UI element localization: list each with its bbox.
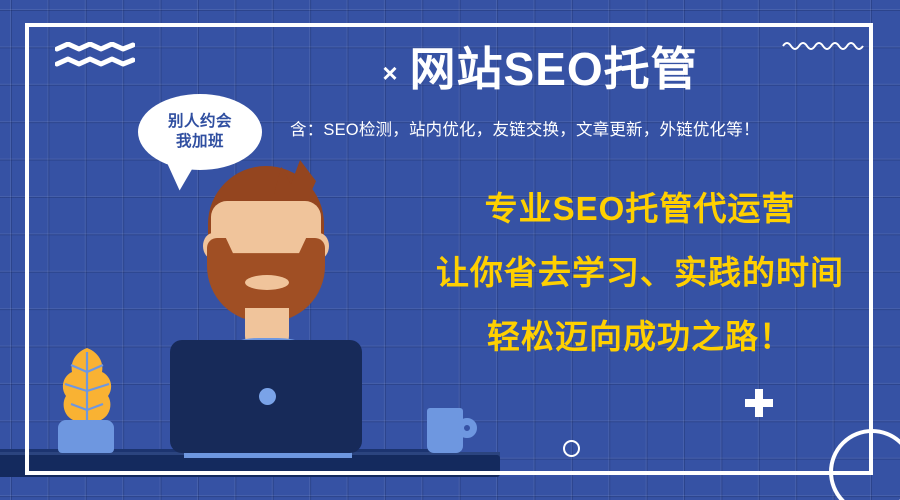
slogan-line-3: 轻松迈向成功之路！: [410, 320, 870, 353]
slogan-block: 专业SEO托管代运营 让你省去学习、实践的时间 轻松迈向成功之路！: [410, 192, 870, 353]
plant-leaf-icon: [58, 346, 116, 430]
page-subtitle: 含：SEO检测，站内优化，友链交换，文章更新，外链优化等！: [290, 116, 890, 140]
slogan-line-2: 让你省去学习、实践的时间: [410, 256, 870, 289]
mug-icon: [427, 408, 463, 453]
speech-bubble: 别人约会 我加班: [138, 94, 262, 170]
corner-circle-icon: [829, 429, 900, 500]
plus-icon: [745, 389, 773, 417]
seo-promo-banner: 别人约会 我加班 × 网站SEO托管 含：SEO检测，站内优化，友链交换，文章更…: [0, 0, 900, 500]
slogan-line-1: 专业SEO托管代运营: [410, 192, 870, 225]
title-bullet-icon: ×: [382, 60, 397, 86]
hair-tuft: [274, 160, 316, 194]
title-block: × 网站SEO托管: [300, 44, 780, 95]
mouth: [245, 275, 289, 290]
plant-pot: [58, 420, 114, 453]
wave-lines-icon: [55, 42, 135, 75]
circle-outline-icon: [563, 440, 580, 457]
laptop-logo-icon: [259, 388, 276, 405]
wave-line-icon: [782, 38, 866, 57]
page-title: 网站SEO托管: [410, 44, 698, 95]
speech-bubble-line-2: 我加班: [176, 132, 224, 152]
speech-bubble-line-1: 别人约会: [168, 112, 232, 132]
